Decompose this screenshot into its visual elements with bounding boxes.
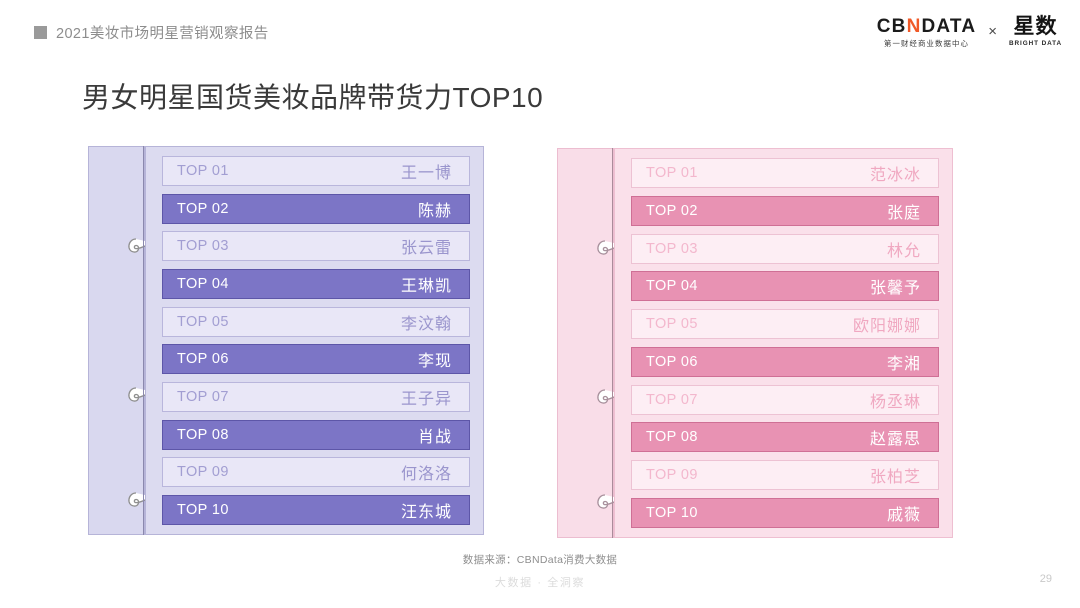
- ranking-row-rank: TOP 05: [646, 316, 698, 332]
- data-source-note: 数据来源：CBNData消费大数据: [0, 552, 1080, 567]
- ranking-row-celebrity: 王子异: [401, 385, 452, 409]
- ranking-row-celebrity: 李湘: [887, 350, 921, 374]
- ranking-row-rank: TOP 03: [646, 241, 698, 257]
- ranking-list-female: TOP 01范冰冰TOP 02张庭TOP 03林允TOP 04张馨予TOP 05…: [614, 148, 953, 538]
- ranking-row-celebrity: 张庭: [887, 199, 921, 223]
- ranking-row[interactable]: TOP 01王一博: [162, 156, 470, 186]
- ranking-row-celebrity: 肖战: [418, 423, 452, 447]
- ranking-row-celebrity: 王一博: [401, 159, 452, 183]
- cbndata-logo: CBNDATA 第一财经商业数据中心: [877, 17, 977, 47]
- watermark-text: 大数据 · 全洞察: [0, 574, 1080, 590]
- ranking-row-rank: TOP 08: [177, 427, 229, 443]
- cbndata-wordmark-accent: N: [907, 17, 922, 36]
- ranking-row-celebrity: 戚薇: [887, 501, 921, 525]
- ranking-row[interactable]: TOP 03林允: [631, 234, 939, 264]
- ranking-row-celebrity: 赵露思: [870, 425, 921, 449]
- ranking-row[interactable]: TOP 04张馨予: [631, 271, 939, 301]
- ranking-row[interactable]: TOP 02陈赫: [162, 194, 470, 224]
- ranking-row-celebrity: 王琳凯: [401, 272, 452, 296]
- ranking-row[interactable]: TOP 02张庭: [631, 196, 939, 226]
- brightdata-wordmark: 星数: [1014, 16, 1058, 37]
- brightdata-logo: 星数 BRIGHT DATA: [1009, 16, 1062, 47]
- notebook-spine-right: [557, 148, 614, 538]
- ranking-row-celebrity: 杨丞琳: [870, 388, 921, 412]
- ranking-row-rank: TOP 06: [177, 351, 229, 367]
- ranking-row[interactable]: TOP 10戚薇: [631, 498, 939, 528]
- ranking-row-rank: TOP 01: [646, 165, 698, 181]
- report-header-title: 2021美妆市场明星营销观察报告: [56, 22, 269, 43]
- ranking-row-celebrity: 林允: [887, 237, 921, 261]
- logo-separator-icon: ×: [987, 23, 998, 40]
- cbndata-wordmark-part2: DATA: [922, 17, 977, 36]
- ranking-row-celebrity: 范冰冰: [870, 161, 921, 185]
- report-header: 2021美妆市场明星营销观察报告: [34, 22, 269, 43]
- ranking-row-celebrity: 张馨予: [870, 274, 921, 298]
- ranking-row[interactable]: TOP 01范冰冰: [631, 158, 939, 188]
- brightdata-subtitle: BRIGHT DATA: [1009, 41, 1062, 47]
- ranking-row-rank: TOP 07: [646, 392, 698, 408]
- ranking-row-rank: TOP 10: [646, 505, 698, 521]
- brand-logo: CBNDATA 第一财经商业数据中心 × 星数 BRIGHT DATA: [877, 16, 1062, 47]
- ranking-row[interactable]: TOP 09何洛洛: [162, 457, 470, 487]
- ranking-row[interactable]: TOP 08肖战: [162, 420, 470, 450]
- ranking-row-rank: TOP 08: [646, 429, 698, 445]
- ranking-row-rank: TOP 03: [177, 238, 229, 254]
- square-bullet-icon: [34, 26, 47, 39]
- ranking-row[interactable]: TOP 08赵露思: [631, 422, 939, 452]
- ranking-row-celebrity: 李现: [418, 347, 452, 371]
- ranking-row-rank: TOP 09: [646, 467, 698, 483]
- ranking-row[interactable]: TOP 09张柏芝: [631, 460, 939, 490]
- ranking-row[interactable]: TOP 04王琳凯: [162, 269, 470, 299]
- ranking-row-rank: TOP 06: [646, 354, 698, 370]
- ranking-row[interactable]: TOP 05欧阳娜娜: [631, 309, 939, 339]
- ranking-row-rank: TOP 10: [177, 502, 229, 518]
- ranking-row[interactable]: TOP 06李现: [162, 344, 470, 374]
- ranking-row-rank: TOP 04: [646, 278, 698, 294]
- ranking-row-celebrity: 张柏芝: [870, 463, 921, 487]
- ranking-row-celebrity: 李汶翰: [401, 310, 452, 334]
- ranking-list-male: TOP 01王一博TOP 02陈赫TOP 03张云雷TOP 04王琳凯TOP 0…: [145, 146, 484, 535]
- ranking-row-celebrity: 欧阳娜娜: [853, 312, 921, 336]
- ranking-row-rank: TOP 07: [177, 389, 229, 405]
- page-number: 29: [1040, 573, 1052, 585]
- ranking-row-celebrity: 陈赫: [418, 197, 452, 221]
- cbndata-wordmark: CBNDATA: [877, 17, 977, 36]
- notebook-spine-left: [88, 146, 145, 535]
- ranking-row[interactable]: TOP 10汪东城: [162, 495, 470, 525]
- ranking-row-rank: TOP 02: [177, 201, 229, 217]
- ranking-board-male: TOP 01王一博TOP 02陈赫TOP 03张云雷TOP 04王琳凯TOP 0…: [88, 146, 484, 535]
- ranking-row-rank: TOP 02: [646, 203, 698, 219]
- ranking-row-rank: TOP 04: [177, 276, 229, 292]
- ranking-row[interactable]: TOP 06李湘: [631, 347, 939, 377]
- cbndata-subtitle: 第一财经商业数据中心: [884, 40, 969, 47]
- ranking-row[interactable]: TOP 03张云雷: [162, 231, 470, 261]
- page-title: 男女明星国货美妆品牌带货力TOP10: [82, 76, 543, 116]
- ranking-row-celebrity: 汪东城: [401, 498, 452, 522]
- ranking-row-rank: TOP 09: [177, 464, 229, 480]
- ranking-row-rank: TOP 05: [177, 314, 229, 330]
- ranking-board-female: TOP 01范冰冰TOP 02张庭TOP 03林允TOP 04张馨予TOP 05…: [557, 148, 953, 538]
- cbndata-wordmark-part1: CB: [877, 17, 907, 36]
- ranking-row[interactable]: TOP 05李汶翰: [162, 307, 470, 337]
- ranking-row-rank: TOP 01: [177, 163, 229, 179]
- ranking-row[interactable]: TOP 07王子异: [162, 382, 470, 412]
- ranking-row[interactable]: TOP 07杨丞琳: [631, 385, 939, 415]
- ranking-row-celebrity: 张云雷: [401, 234, 452, 258]
- ranking-row-celebrity: 何洛洛: [401, 460, 452, 484]
